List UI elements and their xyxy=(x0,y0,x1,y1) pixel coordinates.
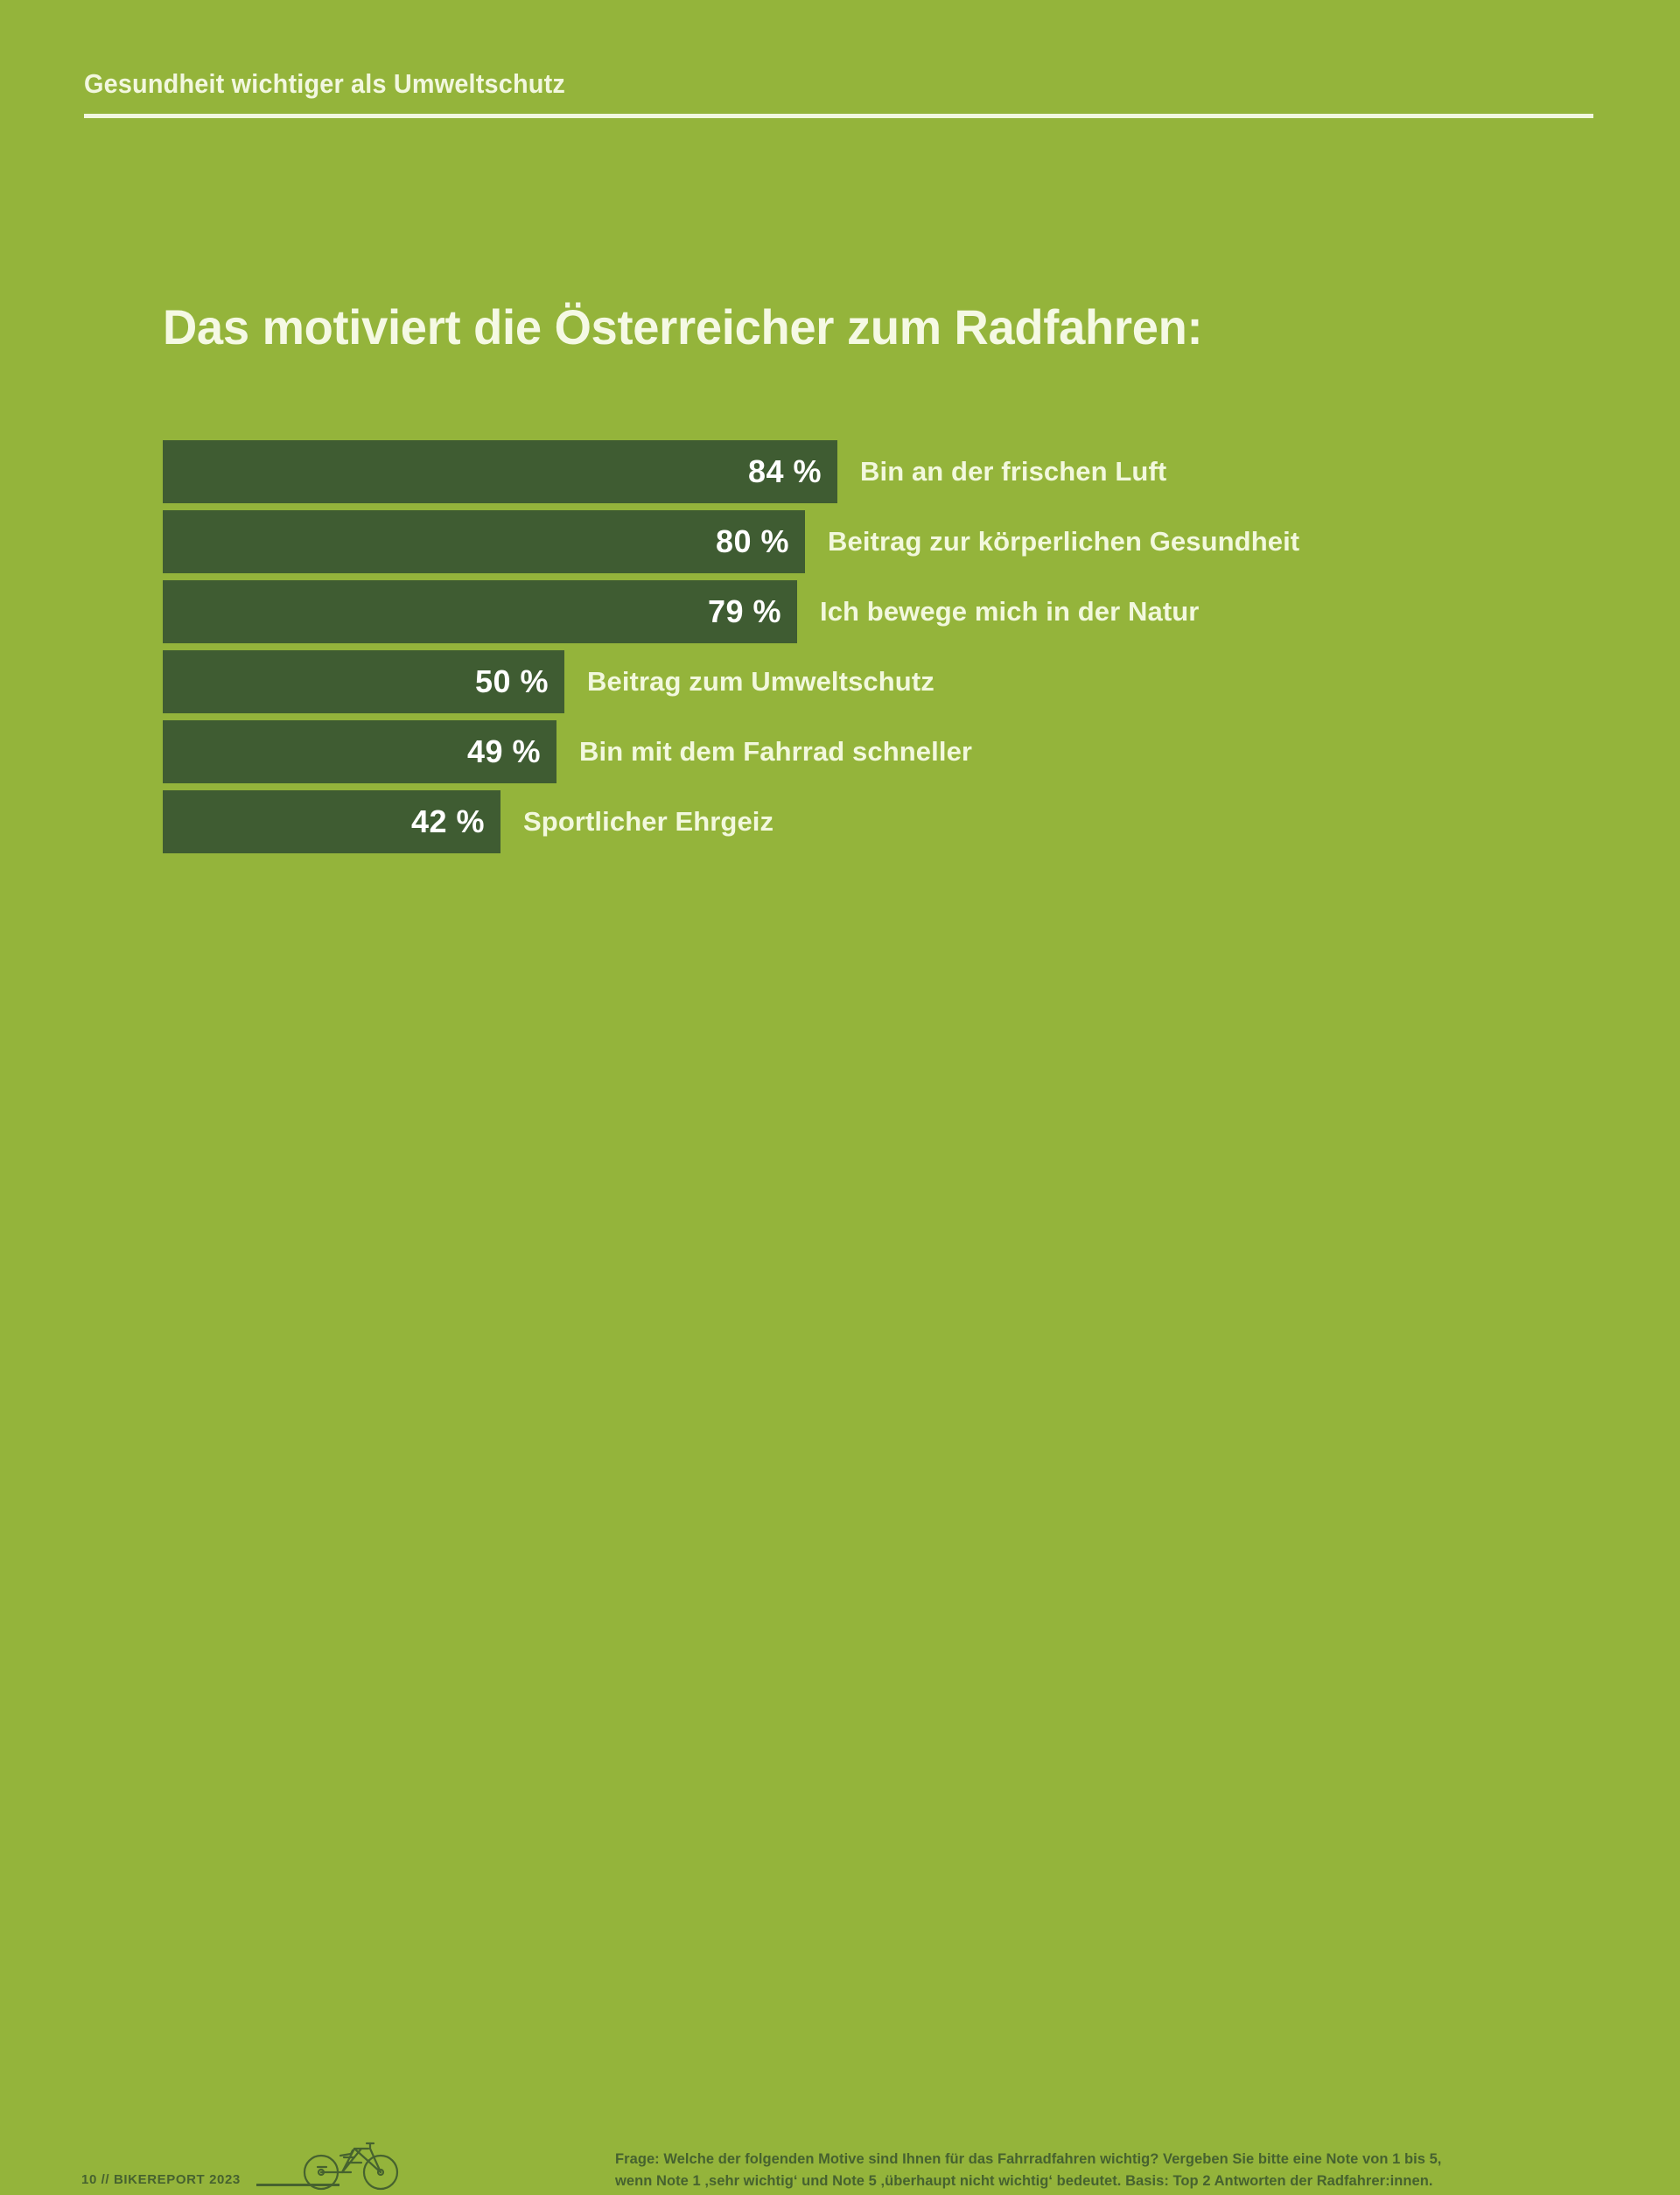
slide-header: Gesundheit wichtiger als Umweltschutz xyxy=(84,68,1596,118)
bar-value-label: 80 % xyxy=(716,523,805,560)
bar-row: 80 %Beitrag zur körperlichen Gesundheit xyxy=(0,510,1680,580)
footnote: Frage: Welche der folgenden Motive sind … xyxy=(615,2149,1595,2192)
bar-value-label: 84 % xyxy=(748,453,837,490)
bar: 50 % xyxy=(163,650,564,713)
bar-row: 84 %Bin an der frischen Luft xyxy=(0,440,1680,510)
header-divider xyxy=(84,114,1593,118)
bar-category-label: Sportlicher Ehrgeiz xyxy=(523,790,773,853)
footer: 10 // BIKEREPORT 2023 Frage: Welche der … xyxy=(0,1056,1680,1188)
bar-value-label: 49 % xyxy=(467,733,556,770)
bar-category-label: Bin an der frischen Luft xyxy=(860,440,1166,503)
bar-category-label: Bin mit dem Fahrrad schneller xyxy=(579,720,972,783)
bar-category-label: Beitrag zur körperlichen Gesundheit xyxy=(828,510,1299,573)
header-eyebrow-text: Gesundheit wichtiger als Umweltschutz xyxy=(84,68,1490,100)
footnote-line-2: wenn Note 1 ‚sehr wichtig‘ und Note 5 ‚ü… xyxy=(615,2170,1595,2192)
bar-value-label: 79 % xyxy=(708,593,797,630)
bar-row: 42 %Sportlicher Ehrgeiz xyxy=(0,790,1680,860)
bar: 79 % xyxy=(163,580,797,643)
bar-row: 79 %Ich bewege mich in der Natur xyxy=(0,580,1680,650)
bar: 84 % xyxy=(163,440,837,503)
bar-row: 50 %Beitrag zum Umweltschutz xyxy=(0,650,1680,720)
bicycle-icon xyxy=(298,2131,403,2191)
bar: 80 % xyxy=(163,510,805,573)
page-marker: 10 // BIKEREPORT 2023 xyxy=(81,2172,241,2187)
bar-value-label: 42 % xyxy=(411,803,500,840)
bar-chart: 84 %Bin an der frischen Luft80 %Beitrag … xyxy=(0,440,1680,860)
bar: 42 % xyxy=(163,790,500,853)
bar-category-label: Beitrag zum Umweltschutz xyxy=(587,650,934,713)
page-title: Das motiviert die Österreicher zum Radfa… xyxy=(163,298,1202,355)
footnote-line-1: Frage: Welche der folgenden Motive sind … xyxy=(615,2149,1595,2170)
bar-value-label: 50 % xyxy=(475,663,564,700)
bar-category-label: Ich bewege mich in der Natur xyxy=(820,580,1199,643)
bar: 49 % xyxy=(163,720,556,783)
bar-row: 49 %Bin mit dem Fahrrad schneller xyxy=(0,720,1680,790)
